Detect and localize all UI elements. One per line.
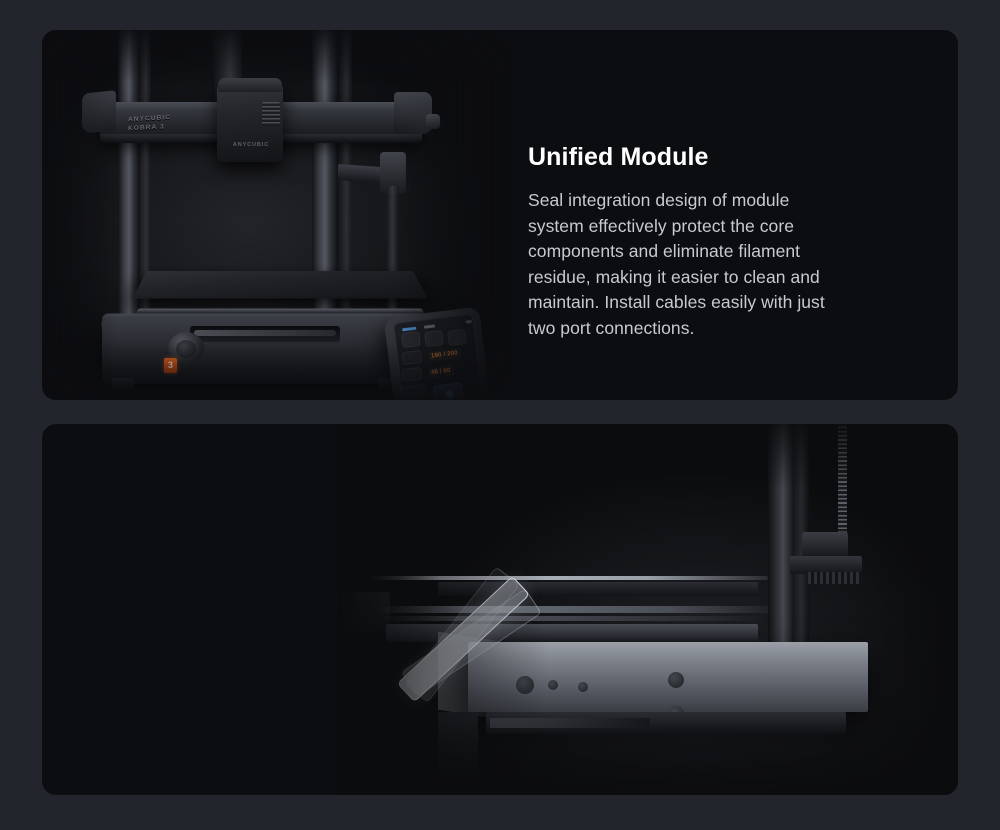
printhead-brand-label: ANYCUBIC [227,142,275,151]
touchscreen-tile-settings-icon [447,329,467,346]
printhead-top-cover [218,78,282,92]
unified-module-description: Seal integration design of module system… [528,188,928,341]
upper-guide-rail [368,576,768,580]
leveling-knob-center [176,340,196,358]
mid-rail-secondary [382,616,762,621]
touchscreen-tile-print-icon [401,331,421,348]
base-mount-hole [668,672,684,688]
feature-card-tailored-comfort: Tailored Comfort The touchscreen design … [42,424,958,795]
base-lower-detail [490,718,650,728]
touchscreen-bed-label [401,367,422,382]
z-mount-ribbing [808,572,862,584]
brand-line-1: ANYCUBIC [128,114,171,123]
anycubic-logo-badge: 3 [164,358,177,373]
base-screw-hole [548,680,558,690]
touchscreen-nozzle-label [401,350,422,365]
gantry-left-endcap [82,90,116,134]
base-port-hole [516,676,534,694]
feature-cards-page: ANYCUBICKOBRA 3 ANYCUBIC 3 [0,0,1000,830]
frame-left-upright [118,30,140,326]
feature-card-unified-module: ANYCUBICKOBRA 3 ANYCUBIC 3 [42,30,958,400]
frame-right-upright [312,30,338,346]
printer-foot-left [112,378,134,390]
touchscreen-tilt-image [338,424,958,795]
printer-product-image: ANYCUBICKOBRA 3 ANYCUBIC 3 [42,30,512,400]
base-screw-hole [578,682,588,692]
mid-rail [378,606,768,613]
brand-line-2: KOBRA 3 [128,123,165,132]
printhead-vent-icon [262,102,280,126]
heated-build-plate [132,271,428,299]
touchscreen-tile-filament-icon [424,330,444,347]
y-axis-rail [194,330,336,336]
touchscreen-print-button [432,382,465,400]
z-lead-screw [838,424,847,534]
z-stepper-motor [802,532,848,558]
base-left-leg [438,712,478,782]
page-title-unified-module: Unified Module [528,142,928,172]
badge-text: 3 [164,358,177,373]
belt-tension-knob [426,114,440,129]
unified-module-text-block: Unified Module Seal integration design o… [528,142,928,341]
